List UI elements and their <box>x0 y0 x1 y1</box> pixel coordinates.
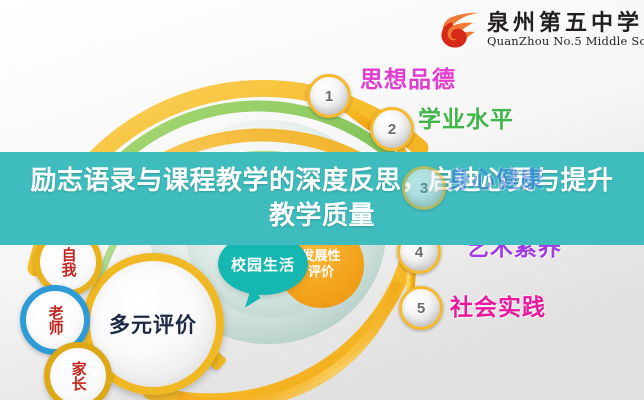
logo-name-cn: 泉州第五中学 <box>487 12 644 35</box>
node-5[interactable]: 5 <box>399 286 443 330</box>
orange-disc-line2: 评价 <box>308 265 334 281</box>
flame-swirl-icon <box>438 8 484 52</box>
category-label-academic: 学业水平 <box>418 100 514 134</box>
role-label-teacher: 老师 <box>47 305 62 335</box>
node-3[interactable]: 3 <box>402 166 446 210</box>
school-logo: 泉州第五中学 QuanZhou No.5 Middle School <box>438 5 634 55</box>
logo-name-en: QuanZhou No.5 Middle School <box>487 35 644 49</box>
category-label-practice: 社会实践 <box>450 288 546 322</box>
page-title: 励志语录与课程教学的深度反思，启迪心灵与提升教学质量 <box>0 152 644 245</box>
node-1[interactable]: 1 <box>307 74 351 118</box>
category-label-health: 身心健康 <box>448 160 544 194</box>
poster-canvas: 泉州第五中学 QuanZhou No.5 Middle School 思想品德 … <box>0 0 644 400</box>
role-label-self: 自我 <box>60 247 75 277</box>
role-label-parent: 家长 <box>70 361 85 391</box>
bubble-label: 校园生活 <box>231 254 295 275</box>
magnifier-label: 多元评价 <box>109 309 197 339</box>
node-2[interactable]: 2 <box>370 107 414 151</box>
category-label-moral: 思想品德 <box>360 60 456 94</box>
